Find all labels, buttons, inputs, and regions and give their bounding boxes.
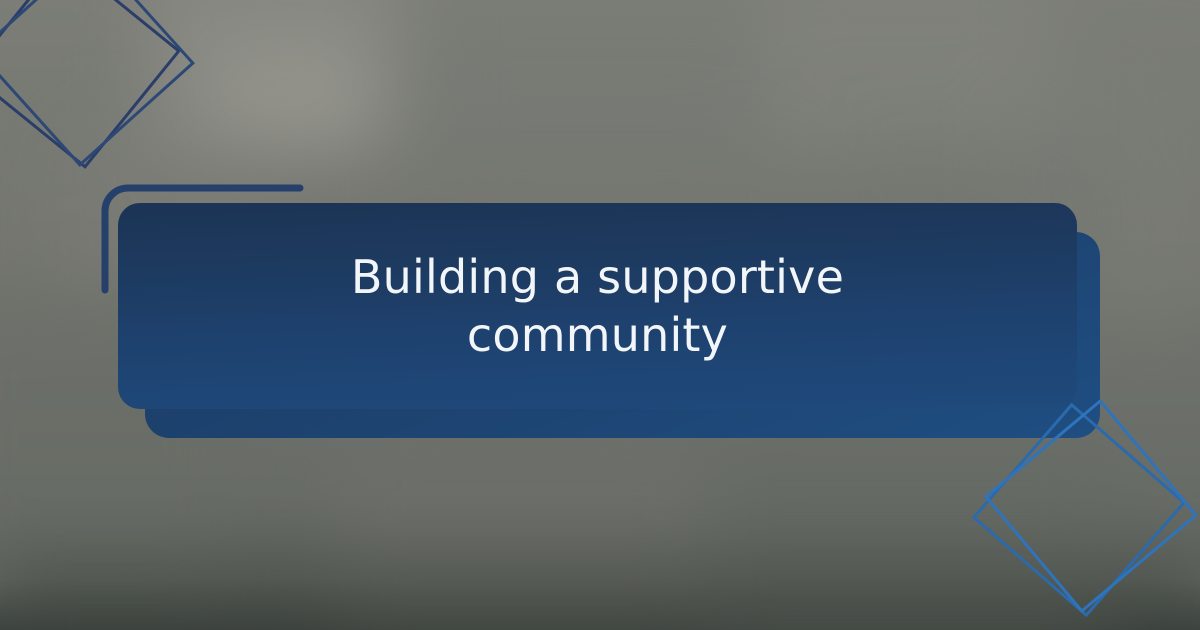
banner-canvas: Building a supportive community <box>0 0 1200 630</box>
banner-card: Building a supportive community <box>118 203 1077 409</box>
page-title: Building a supportive community <box>240 248 956 365</box>
